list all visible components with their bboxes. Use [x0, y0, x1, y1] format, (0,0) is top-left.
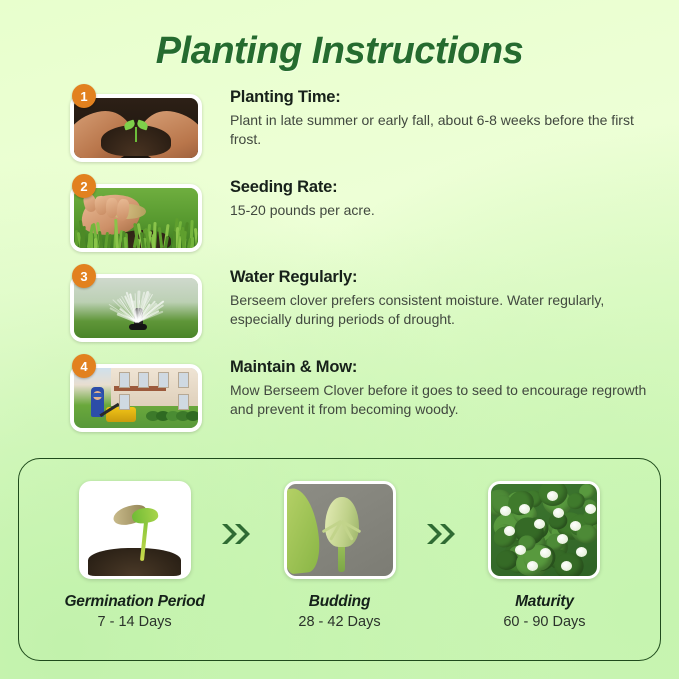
germinating-seedling-image [79, 481, 191, 579]
hands-holding-soil-with-sprout-icon [74, 98, 198, 158]
step-2-title: Seeding Rate: [230, 178, 375, 197]
timeline-stage-maturity: Maturity 60 - 90 Days [465, 481, 624, 630]
step-2-text: Seeding Rate: 15-20 pounds per acre. [202, 178, 375, 220]
step-4-text: Maintain & Mow: Mow Berseem Clover befor… [202, 358, 650, 420]
maturity-days: 60 - 90 Days [465, 614, 624, 630]
blooming-clover-field-icon [491, 484, 597, 576]
growth-timeline-panel: Germination Period 7 - 14 Days Budding 2… [18, 458, 661, 661]
step-1-thumbnail-wrap: 1 [70, 94, 202, 162]
timeline-stage-germination: Germination Period 7 - 14 Days [55, 481, 214, 630]
step-3-text: Water Regularly: Berseem clover prefers … [202, 268, 650, 330]
step-3-thumbnail-wrap: 3 [70, 274, 202, 342]
step-4-number-badge: 4 [72, 354, 96, 378]
step-1-body: Plant in late summer or early fall, abou… [230, 111, 650, 150]
step-3-title: Water Regularly: [230, 268, 650, 287]
step-4-body: Mow Berseem Clover before it goes to see… [230, 381, 650, 420]
double-chevron-right-icon [419, 481, 465, 547]
planting-instructions-infographic: Planting Instructions 1 Planting Time: P… [0, 0, 679, 679]
budding-days: 28 - 42 Days [260, 614, 419, 630]
germination-days: 7 - 14 Days [55, 614, 214, 630]
steps-list: 1 Planting Time: Plant in late summer or… [70, 88, 660, 448]
page-title: Planting Instructions [0, 30, 679, 73]
growth-timeline: Germination Period 7 - 14 Days Budding 2… [19, 481, 660, 630]
step-1-title: Planting Time: [230, 88, 650, 107]
double-chevron-right-icon [214, 481, 260, 547]
step-item: 4 Maintain & Mow: Mow Berseem Clover bef… [70, 358, 660, 432]
step-3-body: Berseem clover prefers consistent moistu… [230, 291, 650, 330]
step-3-number-badge: 3 [72, 264, 96, 288]
germination-label: Germination Period [55, 593, 214, 611]
step-item: 2 Seeding Rate: 15-20 pounds per acre. [70, 178, 660, 252]
step-2-thumbnail-wrap: 2 [70, 184, 202, 252]
hand-spreading-seed-on-grass-icon [74, 188, 198, 248]
step-item: 1 Planting Time: Plant in late summer or… [70, 88, 660, 162]
clover-flower-bud-image [284, 481, 396, 579]
clover-flower-bud-icon [287, 484, 393, 576]
step-2-body: 15-20 pounds per acre. [230, 201, 375, 220]
step-1-number-badge: 1 [72, 84, 96, 108]
budding-label: Budding [260, 593, 419, 611]
blooming-clover-field-image [488, 481, 600, 579]
step-2-number-badge: 2 [72, 174, 96, 198]
maturity-label: Maturity [465, 593, 624, 611]
lawn-sprinkler-watering-icon [74, 278, 198, 338]
germinating-seedling-icon [82, 484, 188, 576]
step-4-thumbnail-wrap: 4 [70, 364, 202, 432]
person-mowing-lawn-icon [74, 368, 198, 428]
step-item: 3 Water Regularly: Berseem clover prefer… [70, 268, 660, 342]
step-1-text: Planting Time: Plant in late summer or e… [202, 88, 650, 150]
step-4-title: Maintain & Mow: [230, 358, 650, 377]
timeline-stage-budding: Budding 28 - 42 Days [260, 481, 419, 630]
